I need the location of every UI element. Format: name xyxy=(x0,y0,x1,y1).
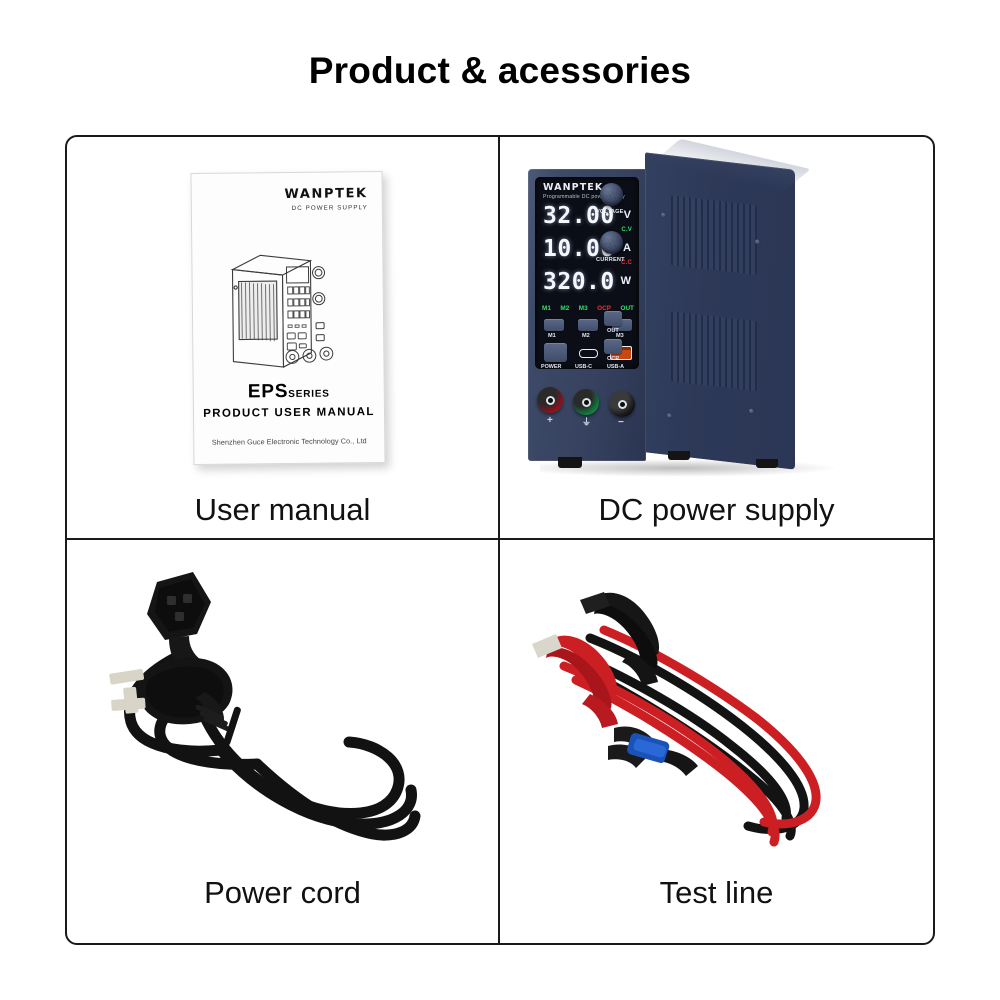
out-button-label: OUT xyxy=(607,328,619,334)
usb-a-label: USB-A xyxy=(607,364,624,370)
memory-button-m2[interactable] xyxy=(578,319,598,331)
dc-power-supply-unit: WANPTEK Programmable DC power supply 32.… xyxy=(518,159,868,489)
power-button-label: POWER xyxy=(541,364,561,370)
chassis-side-panel xyxy=(645,152,795,469)
caption-user-manual: User manual xyxy=(67,492,498,528)
cell-test-line: Test line xyxy=(500,540,933,943)
power-unit: W xyxy=(621,275,631,287)
cell-power-cord: Power cord xyxy=(67,540,500,943)
cell-dc-power-supply: WANPTEK Programmable DC power supply 32.… xyxy=(500,137,933,540)
manual-brand: WANPTEK xyxy=(284,186,367,202)
current-knob-label: CURRENT xyxy=(596,257,625,263)
power-value: 320.0 xyxy=(543,269,611,295)
power-cord-svg xyxy=(97,558,437,858)
manual-series-suffix: SERIES xyxy=(288,389,330,400)
rubber-foot xyxy=(558,457,582,468)
page-title: Product & acessories xyxy=(0,50,1000,92)
readout-row-power: 320.0 W xyxy=(541,269,633,302)
ocp-button[interactable] xyxy=(604,339,622,354)
indicator-m1: M1 xyxy=(542,305,551,312)
voltage-value: 32.00 xyxy=(543,203,611,229)
ground-terminal[interactable] xyxy=(573,389,599,415)
test-line-svg xyxy=(518,560,878,860)
user-manual-booklet: WANPTEK DC POWER SUPPLY xyxy=(190,171,385,465)
chassis-screw xyxy=(661,212,666,218)
readout-row-voltage: 32.00 V C.V xyxy=(541,203,633,236)
caption-test-line: Test line xyxy=(500,875,933,911)
cell-user-manual: WANPTEK DC POWER SUPPLY xyxy=(67,137,500,540)
indicator-m2: M2 xyxy=(560,305,569,312)
positive-terminal[interactable] xyxy=(537,387,563,413)
rubber-foot xyxy=(668,451,690,460)
vent-grille-lower xyxy=(671,311,757,391)
product-grid: WANPTEK DC POWER SUPPLY xyxy=(65,135,935,945)
indicator-m3: M3 xyxy=(579,305,588,312)
manual-series-name: EPS xyxy=(248,381,289,402)
usb-c-label: USB-C xyxy=(575,364,592,370)
indicator-out: OUT xyxy=(620,305,634,312)
vent-grille-upper xyxy=(671,195,757,275)
ground-terminal-label: ⏚ xyxy=(582,415,591,428)
device-brand-logo: WANPTEK xyxy=(543,182,603,193)
memory-button-m1-label: M1 xyxy=(548,333,556,339)
usb-c-port[interactable] xyxy=(579,349,598,358)
power-cord-illustration xyxy=(97,558,437,858)
chassis-screw xyxy=(667,413,672,419)
manual-doc-title: PRODUCT USER MANUAL xyxy=(202,406,376,420)
chassis-front-panel: WANPTEK Programmable DC power supply 32.… xyxy=(528,169,646,461)
current-knob[interactable] xyxy=(600,231,623,254)
chassis-screw xyxy=(749,408,754,414)
out-button[interactable] xyxy=(604,311,622,326)
current-unit: A xyxy=(623,242,631,254)
memory-button-m1[interactable] xyxy=(544,319,564,331)
manual-company: Shenzhen Guce Electronic Technology Co.,… xyxy=(202,436,376,447)
negative-terminal[interactable] xyxy=(609,391,635,417)
manual-device-illustration xyxy=(220,242,369,372)
rubber-foot xyxy=(756,459,778,468)
display-bezel: WANPTEK Programmable DC power supply 32.… xyxy=(535,177,639,369)
memory-button-m2-label: M2 xyxy=(582,333,590,339)
voltage-unit: V xyxy=(624,209,631,221)
power-button[interactable] xyxy=(544,343,567,362)
manual-brand-subtitle: DC POWER SUPPLY xyxy=(292,204,368,212)
led-readout: 32.00 V C.V 10.00 A C.C 320.0 W xyxy=(541,203,633,302)
caption-dc-power-supply: DC power supply xyxy=(500,492,933,528)
positive-terminal-label: + xyxy=(547,415,553,426)
voltage-knob[interactable] xyxy=(600,183,623,206)
chassis-top-panel xyxy=(653,139,810,192)
manual-series-title: EPSSERIES xyxy=(202,380,376,404)
chassis-screw xyxy=(755,239,760,245)
cv-indicator: C.V xyxy=(621,227,632,233)
voltage-knob-label: VOLTAGE xyxy=(596,209,624,215)
caption-power-cord: Power cord xyxy=(67,875,498,911)
ocp-button-label: OCP xyxy=(607,356,619,362)
unit-shadow xyxy=(540,459,840,477)
test-line-illustration xyxy=(518,560,878,860)
negative-terminal-label: − xyxy=(618,417,624,428)
